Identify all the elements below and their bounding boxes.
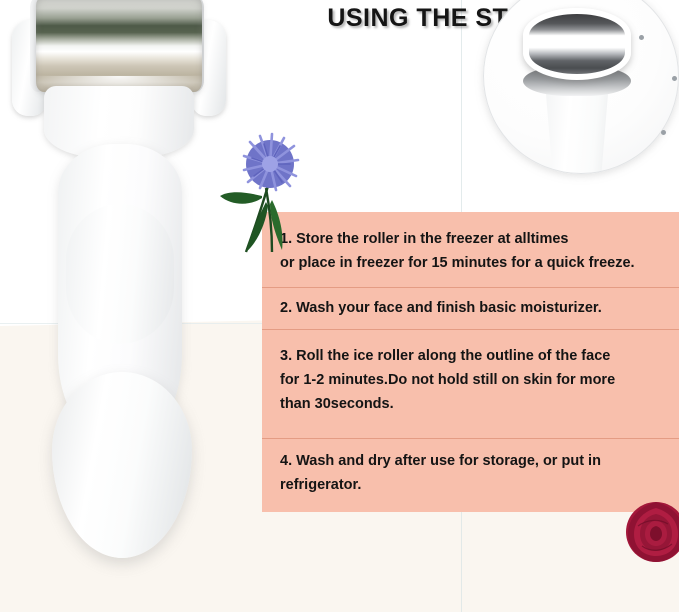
instruction-step-4: 4. Wash and dry after use for storage, o… <box>262 442 679 504</box>
step-separator <box>262 438 679 439</box>
cornflower-icon <box>206 126 326 254</box>
ring-dot-icon <box>672 76 677 81</box>
ring-dot-icon <box>661 130 666 135</box>
instructions-panel: 1. Store the roller in the freezer at al… <box>262 212 679 512</box>
handle-waist-icon <box>66 204 174 344</box>
step-separator <box>262 329 679 330</box>
product-illustration <box>0 0 250 569</box>
instruction-step-2: 2. Wash your face and finish basic moist… <box>262 288 679 328</box>
handle-base-icon <box>52 372 192 558</box>
background-cream-bottom-right <box>250 512 679 612</box>
infographic-page: USING THE STEP 1. Store the roller in th… <box>0 0 679 612</box>
metal-roller-cylinder-icon <box>36 0 202 92</box>
instruction-step-3: 3. Roll the ice roller along the outline… <box>262 332 679 428</box>
ring-dot-icon <box>639 35 644 40</box>
rose-icon <box>624 496 679 568</box>
